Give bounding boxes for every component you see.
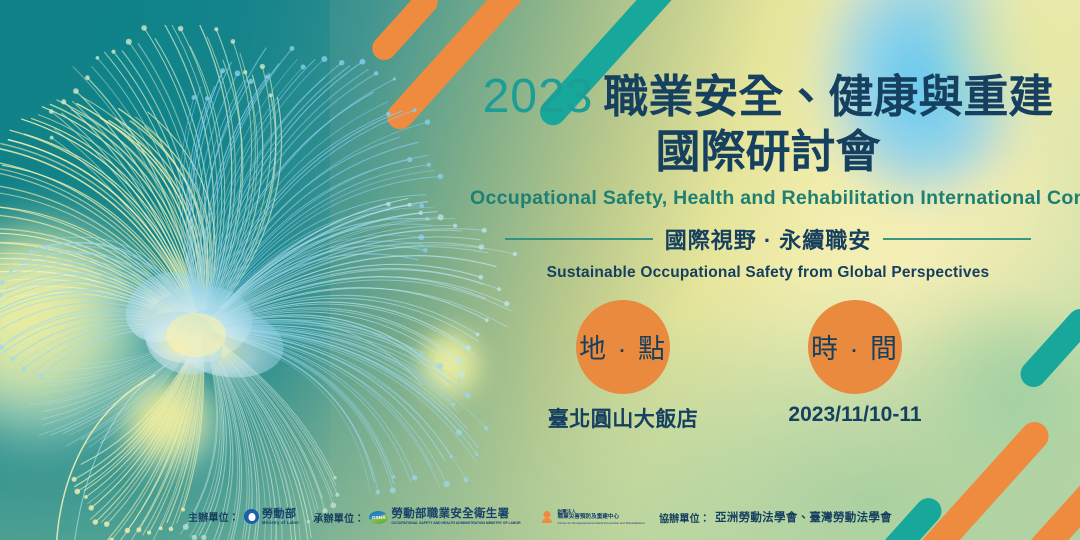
coorganizer-names: 亞洲勞動法學會、臺灣勞動法學會 xyxy=(715,509,892,525)
osha-name-cn: 勞動部職業安全衛生署 xyxy=(391,509,520,521)
title-block: 2023職業安全、健康與重建 國際研討會 Occupational Safety… xyxy=(470,68,1066,282)
center-logo-group: 財團法人 職業災害預防及重建中心 Center for Occupational… xyxy=(535,509,645,526)
slogan-rule-left xyxy=(505,238,653,240)
venue-circle-label: 地 · 點 xyxy=(579,327,667,366)
osha-logo: OSHA 勞動部職業安全衛生署 OCCUPATIONAL SAFETY AND … xyxy=(369,509,520,525)
slogan-row: 國際視野 · 永續職安 xyxy=(470,223,1066,255)
venue-value: 臺北圓山大飯店 xyxy=(508,403,738,433)
main-title-line-1: 2023職業安全、健康與重建 xyxy=(470,68,1066,126)
coapr-mark-icon xyxy=(535,509,555,526)
poster-content: 2023職業安全、健康與重建 國際研討會 Occupational Safety… xyxy=(0,0,1080,540)
date-value: 2023/11/10-11 xyxy=(740,403,970,427)
title-line1-chinese: 職業安全、健康與重建 xyxy=(603,71,1053,122)
ministry-of-labor-logo: 勞動部 Ministry of Labor xyxy=(244,509,299,525)
sponsor-footer: 主辦單位： 勞動部 Ministry of Labor 承辦單位： OSHA xyxy=(0,500,1080,534)
event-info-row: 地 · 點 臺北圓山大飯店 時 · 間 2023/11/10-11 xyxy=(470,300,1066,435)
main-title-line-2: 國際研討會 xyxy=(470,124,1066,180)
executor-label: 承辦單位： xyxy=(313,510,364,525)
date-circle-label: 時 · 間 xyxy=(811,327,899,366)
osha-badge-text: OSHA xyxy=(372,515,386,520)
ministry-of-labor-name-en: Ministry of Labor xyxy=(262,521,299,525)
conference-poster: 2023職業安全、健康與重建 國際研討會 Occupational Safety… xyxy=(0,0,1080,540)
slogan-rule-right xyxy=(883,238,1031,240)
coapr-name-line2: 職業災害預防及重建中心 xyxy=(558,514,645,520)
organizer-group: 主辦單位： 勞動部 Ministry of Labor xyxy=(188,509,299,525)
coorganizer-group: 協辦單位： 亞洲勞動法學會、臺灣勞動法學會 xyxy=(659,509,892,525)
slogan-english: Sustainable Occupational Safety from Glo… xyxy=(470,264,1066,282)
venue-circle-badge: 地 · 點 xyxy=(576,300,670,394)
ministry-of-labor-name-cn: 勞動部 xyxy=(262,509,299,520)
date-circle-badge: 時 · 間 xyxy=(808,300,902,394)
organizer-label: 主辦單位： xyxy=(188,509,239,524)
coorganizer-label: 協辦單位： xyxy=(659,510,710,525)
title-year: 2023 xyxy=(483,70,594,123)
osha-name-en: OCCUPATIONAL SAFETY AND HEALTH ADMINISTR… xyxy=(391,522,520,525)
osha-mark-icon: OSHA xyxy=(369,511,388,524)
date-info: 時 · 間 2023/11/10-11 xyxy=(740,300,970,427)
subtitle-english: Occupational Safety, Health and Rehabili… xyxy=(470,187,1066,210)
executor-group: 承辦單位： OSHA 勞動部職業安全衛生署 OCCUPATIONAL SAFET… xyxy=(313,509,520,525)
coapr-logo: 財團法人 職業災害預防及重建中心 Center for Occupational… xyxy=(535,509,645,526)
ministry-of-labor-mark-icon xyxy=(244,509,259,524)
slogan-chinese: 國際視野 · 永續職安 xyxy=(665,223,872,255)
coapr-name-en: Center for Occupational Accident Prevent… xyxy=(558,522,645,525)
venue-info: 地 · 點 臺北圓山大飯店 xyxy=(508,300,738,433)
